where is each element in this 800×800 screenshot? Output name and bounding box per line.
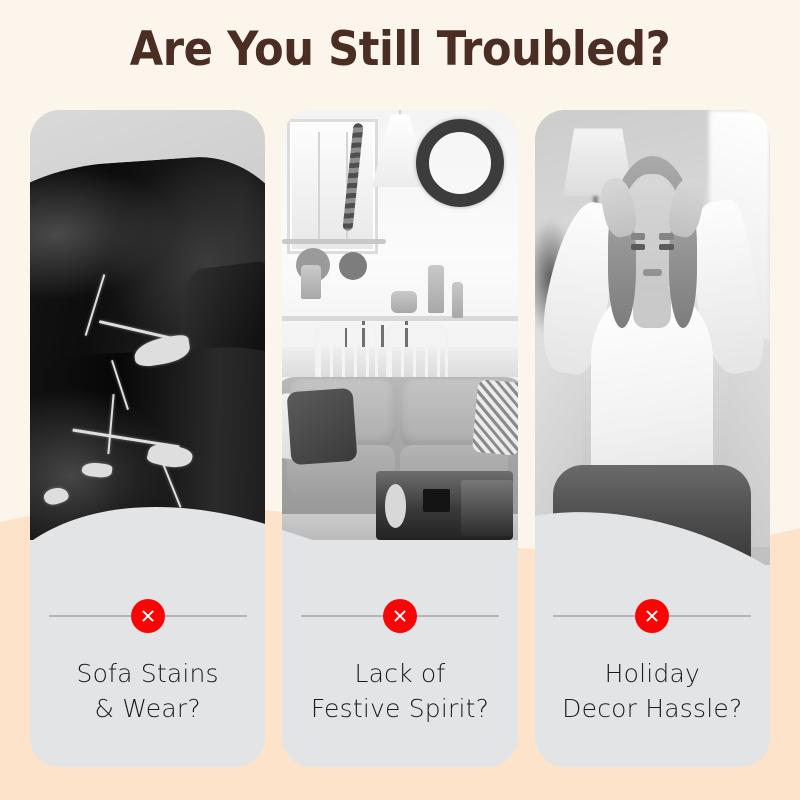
card-footer: Sofa Stains & Wear? — [30, 540, 265, 767]
trouble-cards-row: Sofa Stains & Wear? — [30, 110, 770, 767]
page-title: Are You Still Troubled? — [32, 22, 768, 77]
card-image-plain-living-room — [282, 110, 517, 540]
divider-line — [49, 615, 247, 617]
card-footer: Holiday Decor Hassle? — [535, 540, 770, 767]
divider-line — [553, 615, 751, 617]
card-caption: Holiday Decor Hassle? — [544, 657, 761, 726]
card-caption: Lack of Festive Spirit? — [292, 657, 509, 726]
card-footer: Lack of Festive Spirit? — [282, 540, 517, 767]
x-mark-icon — [383, 599, 417, 633]
card-image-sofa-damage — [30, 110, 265, 540]
card-caption: Sofa Stains & Wear? — [39, 657, 256, 726]
x-mark-icon — [635, 599, 669, 633]
x-mark-icon — [131, 599, 165, 633]
trouble-card: Lack of Festive Spirit? — [282, 110, 517, 767]
trouble-card: Holiday Decor Hassle? — [535, 110, 770, 767]
trouble-card: Sofa Stains & Wear? — [30, 110, 265, 767]
promo-poster: Are You Still Troubled? — [0, 0, 800, 800]
divider-line — [301, 615, 499, 617]
card-image-stressed-woman — [535, 110, 770, 565]
